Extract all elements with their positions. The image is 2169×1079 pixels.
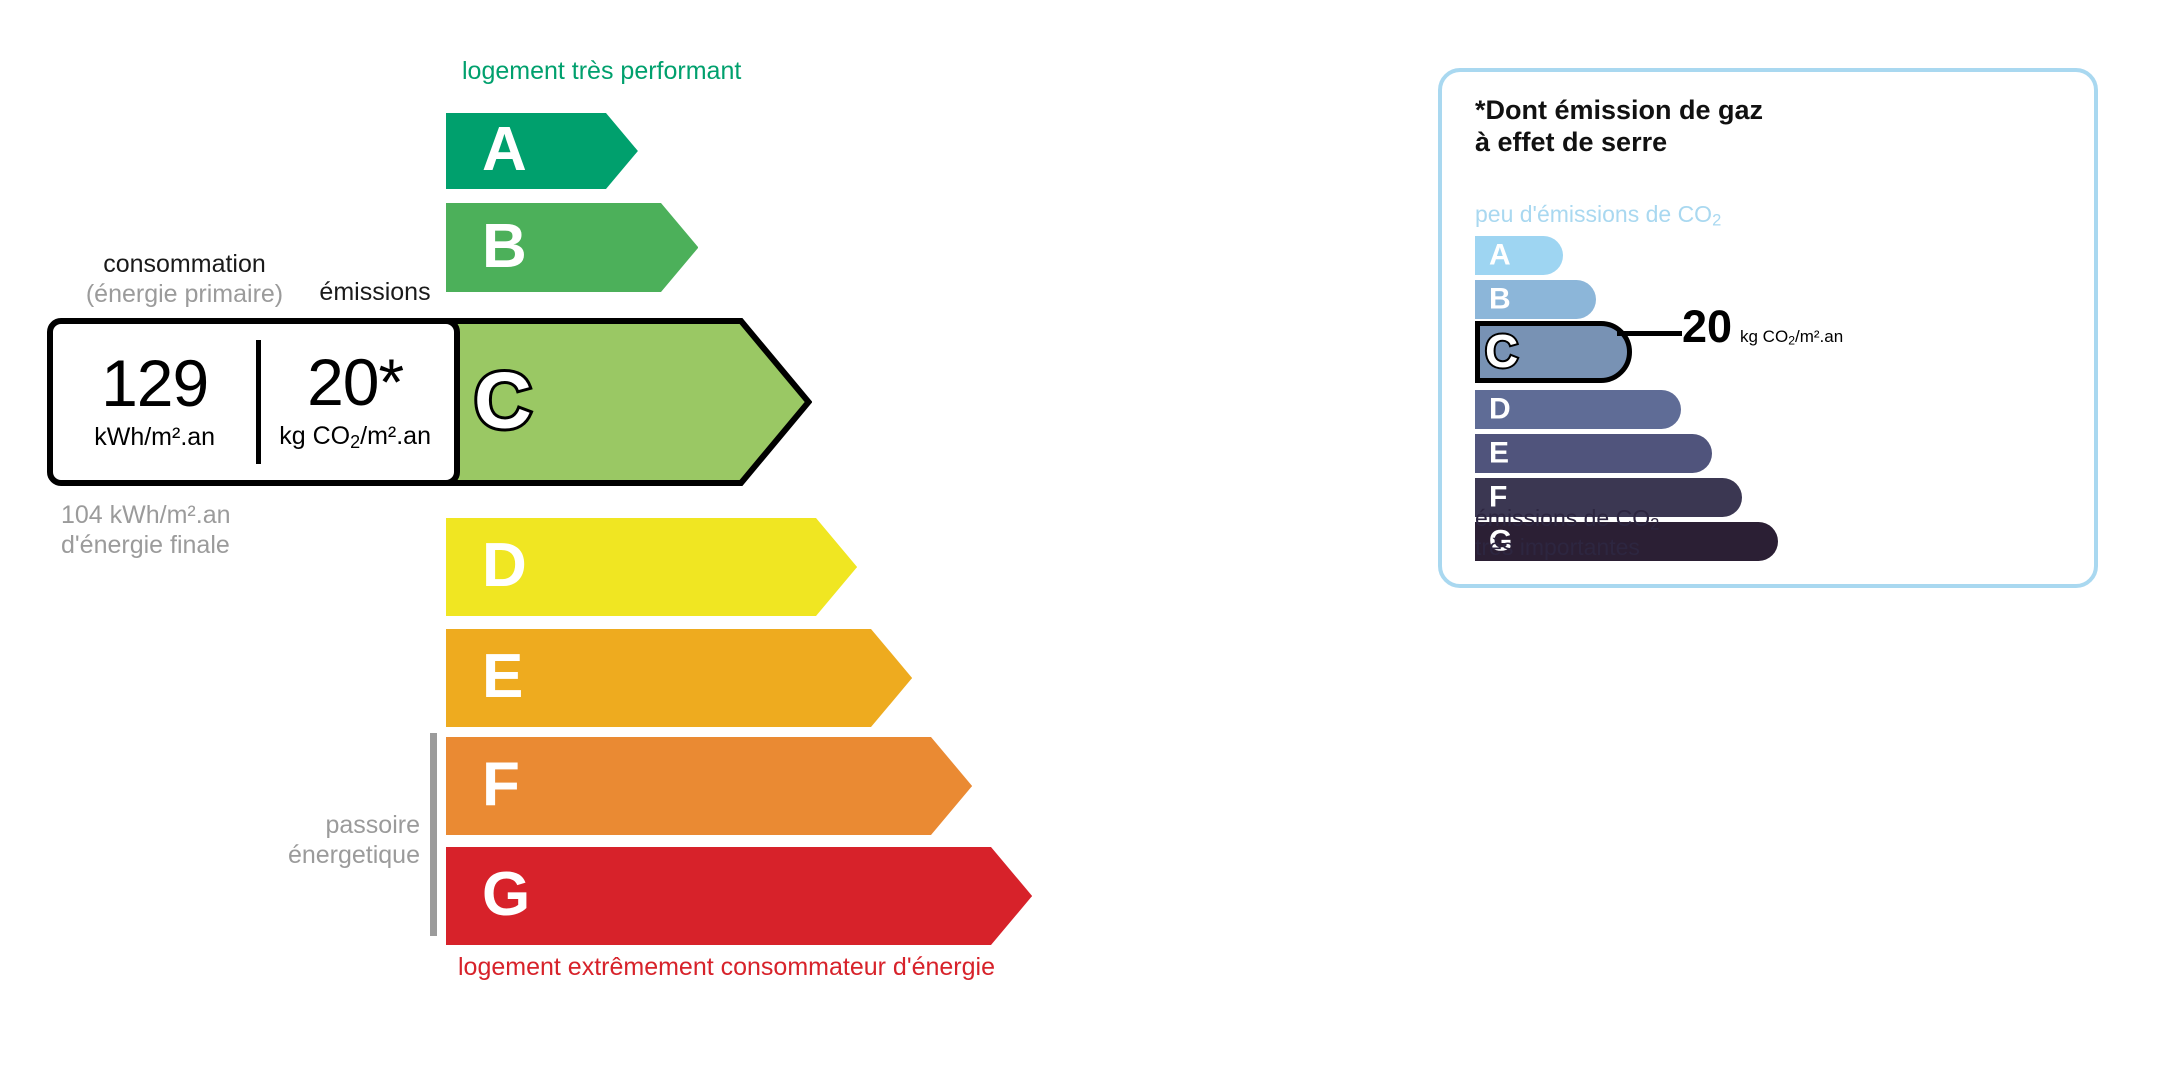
ges-bar-c: C: [1475, 321, 1632, 383]
grade-bar-c: C: [446, 318, 812, 486]
consumption-header: consommation (énergie primaire): [67, 250, 302, 309]
grade-arrow-shape: [446, 737, 972, 835]
ges-panel: *Dont émission de gaz à effet de serre p…: [1438, 68, 2098, 588]
passoire-label: passoire énergetique: [210, 810, 420, 870]
consumption-value: 129: [101, 352, 208, 415]
ges-bottom-label-line2: très importantes: [1475, 534, 1659, 561]
grade-bar-f: F: [446, 737, 972, 835]
consumption-value-cell: 129 kWh/m².an: [53, 324, 256, 480]
ges-letter-c: C: [1485, 328, 1518, 374]
grade-bar-g: G: [446, 847, 1032, 945]
chart-top-caption: logement très performant: [462, 57, 741, 86]
ges-leader-line: [1617, 331, 1682, 336]
emissions-unit: kg CO2/m².an: [279, 422, 431, 453]
emissions-value: 20*: [307, 351, 403, 414]
grade-arrow-shape: [446, 847, 1032, 945]
grade-letter-b: B: [482, 215, 527, 277]
passoire-label-line1: passoire: [210, 810, 420, 840]
grade-letter-d: D: [482, 535, 527, 597]
grade-bar-a: A: [446, 113, 638, 189]
consumption-header-line1: consommation: [103, 250, 266, 278]
energy-consumption-chart: logement très performant consommation (é…: [0, 0, 1400, 1079]
emissions-value-cell: 20* kg CO2/m².an: [256, 324, 454, 480]
ges-value-unit: kg CO2/m².an: [1740, 327, 1843, 347]
ges-bar-e: E: [1475, 434, 1712, 473]
final-energy-line2: d'énergie finale: [61, 530, 231, 560]
value-box: 129 kWh/m².an 20* kg CO2/m².an: [47, 318, 460, 486]
passoire-label-line2: énergetique: [210, 840, 420, 870]
grade-arrow-shape: [446, 113, 638, 189]
ges-bottom-label-line1: émissions de CO2: [1475, 505, 1659, 534]
ges-bottom-label: émissions de CO2 très importantes: [1475, 505, 1659, 561]
ges-bar-d: D: [1475, 390, 1681, 429]
final-energy-line1: 104 kWh/m².an: [61, 500, 231, 530]
consumption-header-line2: (énergie primaire): [67, 280, 302, 310]
grade-letter-e: E: [482, 646, 523, 708]
grade-letter-g: G: [482, 864, 530, 926]
ges-bar-fill: [1475, 434, 1712, 473]
grade-bar-b: B: [446, 203, 698, 292]
ges-letter-b: B: [1489, 284, 1511, 314]
emissions-header: émissions: [300, 278, 450, 307]
ges-letter-a: A: [1489, 240, 1511, 270]
dpe-energy-label: logement très performant consommation (é…: [0, 0, 2169, 1079]
ges-letter-e: E: [1489, 438, 1509, 468]
grade-letter-f: F: [482, 754, 520, 816]
ges-panel-title: *Dont émission de gaz à effet de serre: [1475, 95, 1763, 159]
ges-title-line1: *Dont émission de gaz: [1475, 95, 1763, 127]
ges-top-label: peu d'émissions de CO2: [1475, 201, 1721, 230]
passoire-marker-line: [430, 733, 437, 936]
ges-value: 20: [1682, 304, 1732, 349]
ges-letter-d: D: [1489, 394, 1511, 424]
grade-letter-c: C: [474, 360, 532, 440]
grade-letter-a: A: [482, 119, 527, 181]
grade-bar-e: E: [446, 629, 912, 727]
consumption-unit: kWh/m².an: [94, 423, 215, 452]
ges-title-line2: à effet de serre: [1475, 127, 1763, 159]
ges-bar-a: A: [1475, 236, 1563, 275]
chart-bottom-caption: logement extrêmement consommateur d'éner…: [458, 953, 995, 982]
grade-bar-d: D: [446, 518, 857, 616]
final-energy-note: 104 kWh/m².an d'énergie finale: [61, 500, 231, 560]
ges-bar-b: B: [1475, 280, 1596, 319]
